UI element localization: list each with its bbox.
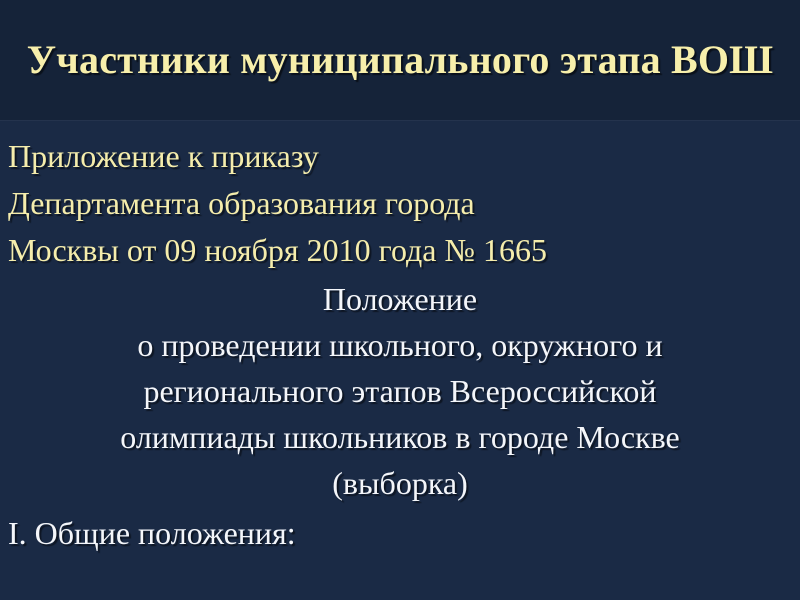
body-line-olympiad-city: олимпиады школьников в городе Москве [0,417,800,457]
body-line-excerpt: (выборка) [0,463,800,503]
body-line-stages-1: о проведении школьного, окружного и [0,325,800,365]
slide-content: Приложение к приказу Департамента образо… [0,121,800,600]
body-line-section-heading: I. Общие положения: [0,513,800,553]
slide-title: Участники муниципального этапа ВОШ [0,36,800,84]
body-line-order-number: Москвы от 09 ноября 2010 года № 1665 [0,230,800,270]
body-line-polozhenie-heading: Положение [0,279,800,319]
body-line-department: Департамента образования города [0,183,800,223]
body-line-stages-2: регионального этапов Всероссийской [0,371,800,411]
slide: Участники муниципального этапа ВОШ Прило… [0,0,800,600]
body-line-appendix: Приложение к приказу [0,136,800,176]
